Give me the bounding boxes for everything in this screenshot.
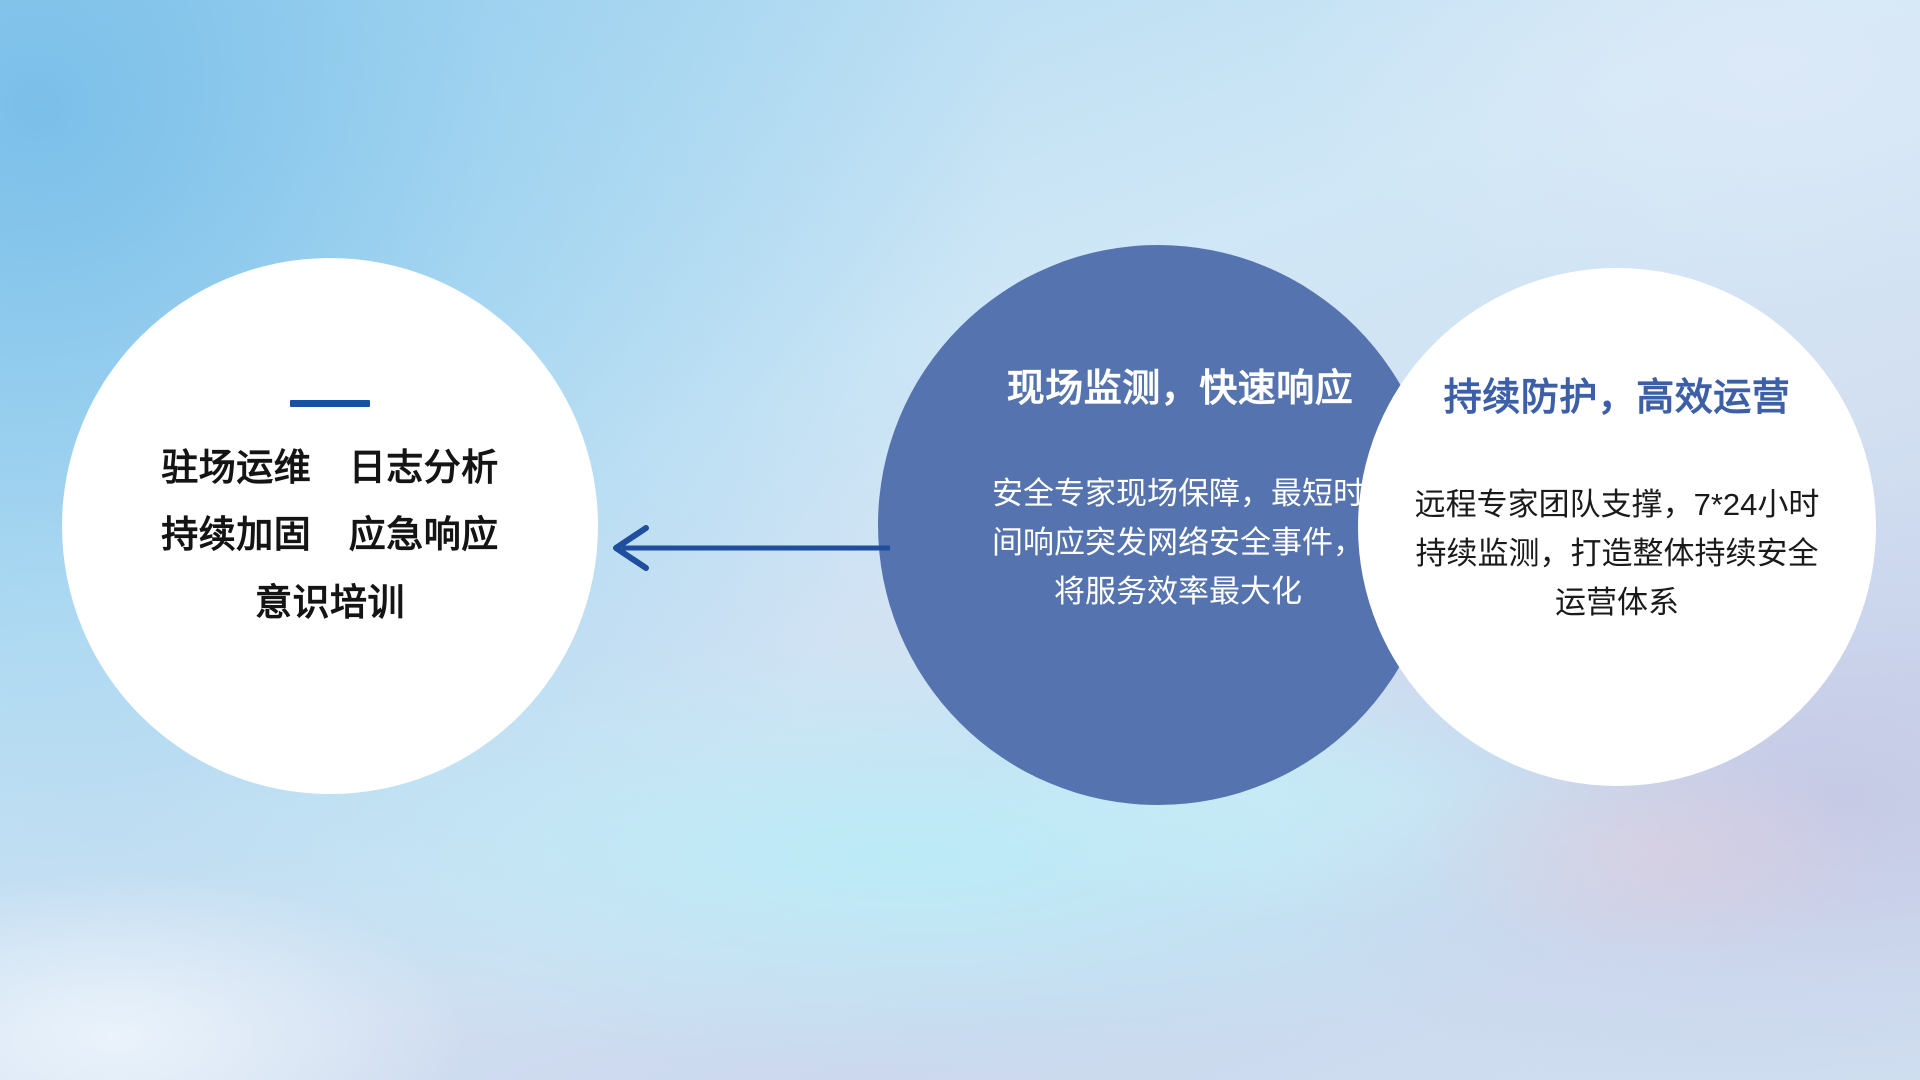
middle-circle-title: 现场监测，快速响应 (1007, 357, 1354, 412)
arrow-icon (600, 520, 890, 576)
left-circle-content: 驻场运维 日志分析 持续加固 应急响应 意识培训 (62, 258, 598, 794)
right-circle-body-text: 远程专家团队支撑，7*24小时持续监测，打造整体持续安全运营体系 (1402, 481, 1832, 628)
left-pointing-arrow-connector (600, 520, 890, 576)
slide-canvas: 驻场运维 日志分析 持续加固 应急响应 意识培训 现场监测，快速响应 安全专家现… (0, 0, 1920, 1080)
left-keyword-line-1: 驻场运维 日志分析 (161, 447, 499, 488)
blue-divider-dash (290, 400, 370, 407)
left-keyword-line-2: 持续加固 应急响应 (161, 514, 499, 555)
right-circle-content: 持续防护，高效运营 远程专家团队支撑，7*24小时持续监测，打造整体持续安全运营… (1358, 268, 1876, 786)
middle-circle-body-text: 安全专家现场保障，最短时间响应突发网络安全事件，将服务效率最大化 (978, 470, 1378, 617)
right-circle-title: 持续防护，高效运营 (1444, 366, 1791, 421)
middle-circle-content: 现场监测，快速响应 安全专家现场保障，最短时间响应突发网络安全事件，将服务效率最… (878, 245, 1438, 805)
left-keyword-line-3: 意识培训 (161, 582, 499, 623)
left-circle-keyword-list: 驻场运维 日志分析 持续加固 应急响应 意识培训 (161, 447, 499, 623)
